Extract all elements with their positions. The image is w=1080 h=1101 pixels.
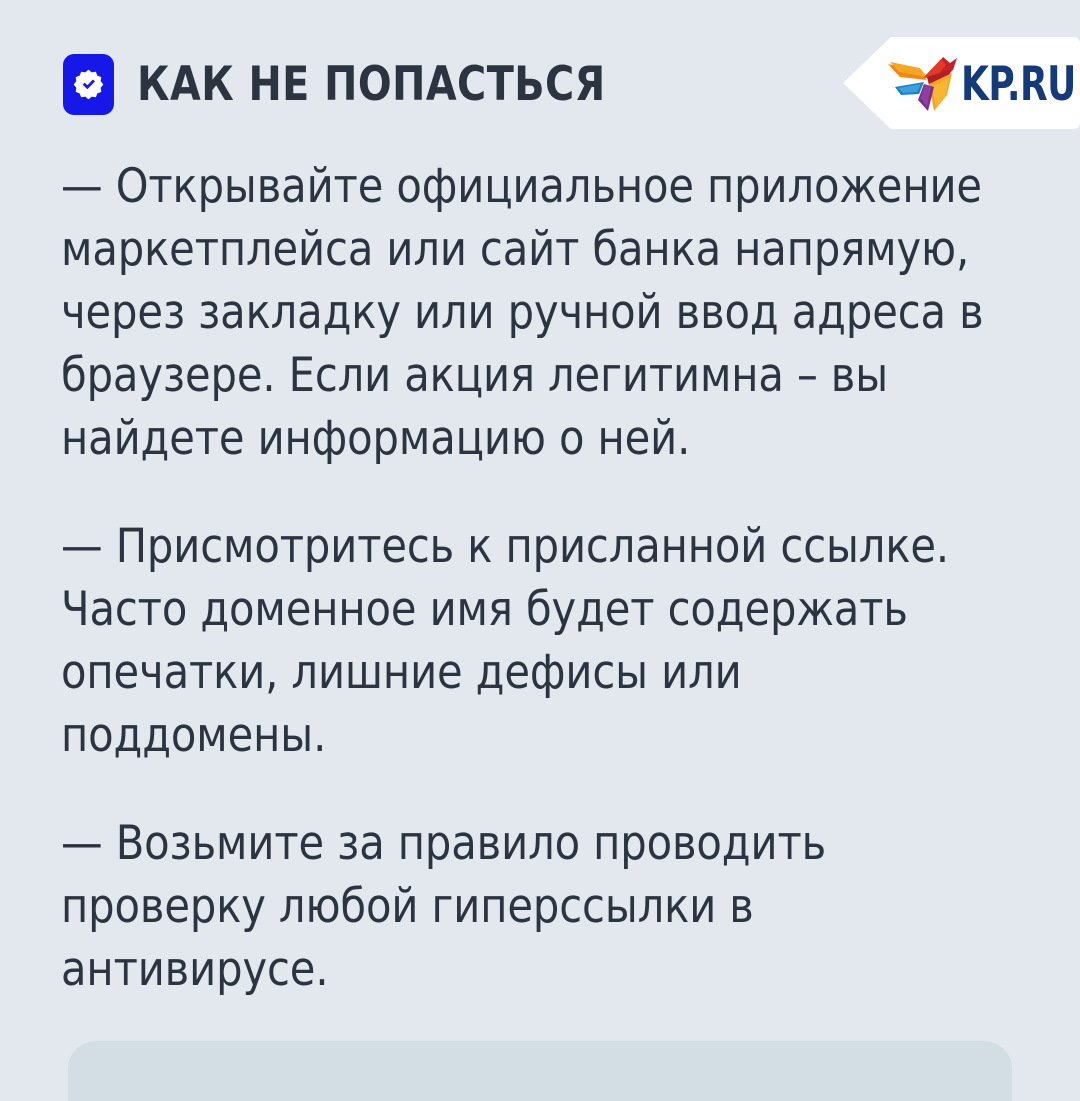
brand-wordmark: KP.RU [961, 31, 1076, 134]
footer-panel [68, 1041, 1012, 1101]
page-title: КАК НЕ ПОПАСТЬСЯ [137, 54, 606, 115]
tip-paragraph: — Присмотритесь к присланной ссылке. Час… [61, 515, 1007, 767]
header: КАК НЕ ПОПАСТЬСЯ [0, 0, 1080, 160]
verified-badge-icon [63, 54, 114, 115]
body-copy: — Открывайте официальное приложение марк… [61, 155, 1021, 1001]
brand-logo[interactable]: KP.RU [843, 37, 1080, 129]
tip-paragraph: — Возьмите за правило проводить проверку… [61, 812, 1007, 1001]
tip-paragraph: — Открывайте официальное приложение марк… [61, 155, 1007, 470]
swallow-bird-icon [887, 51, 961, 115]
infographic-card: КАК НЕ ПОПАСТЬСЯ [0, 0, 1080, 1080]
